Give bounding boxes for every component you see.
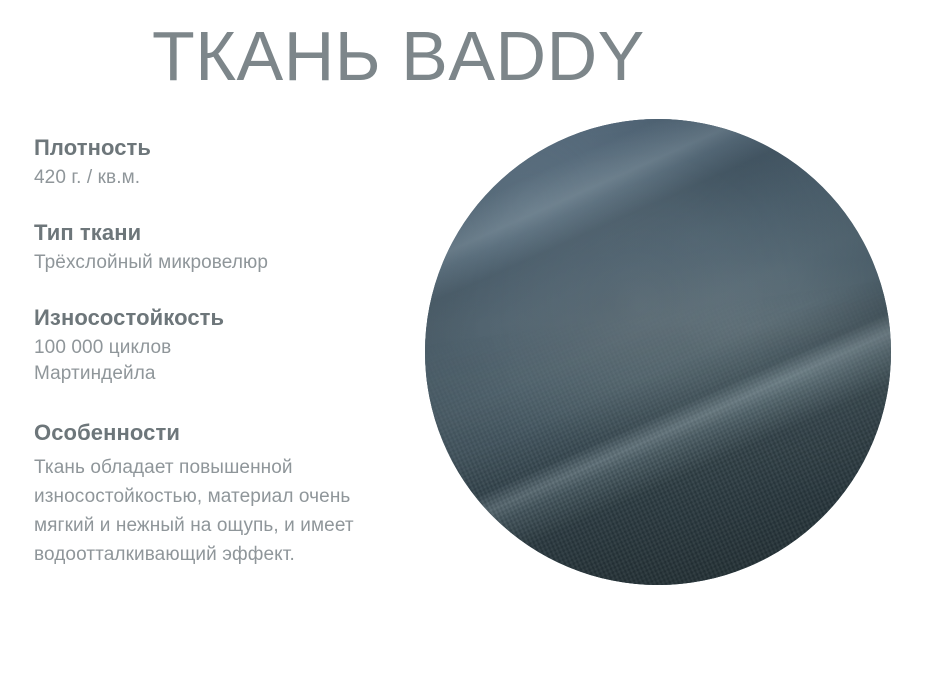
spec-value-durability: 100 000 циклов Мартиндейла — [34, 335, 404, 387]
spec-label-durability: Износостойкость — [34, 304, 404, 332]
spec-value-density: 420 г. / кв.м. — [34, 165, 404, 191]
spec-value-fabric-type: Трёхслойный микровелюр — [34, 250, 404, 276]
spec-label-fabric-type: Тип ткани — [34, 219, 404, 247]
spec-item-fabric-type: Тип ткани Трёхслойный микровелюр — [34, 219, 404, 276]
spec-label-features: Особенности — [34, 419, 404, 447]
spec-label-density: Плотность — [34, 134, 404, 162]
spec-value-features: Ткань обладает повышенной износостойкост… — [34, 453, 384, 569]
page-title: ТКАНЬ BADDY — [152, 14, 645, 98]
fabric-swatch-photo — [425, 119, 891, 585]
spec-item-durability: Износостойкость 100 000 циклов Мартиндей… — [34, 304, 404, 387]
fabric-spec-slide: ТКАНЬ BADDY Плотность 420 г. / кв.м. Тип… — [0, 0, 934, 700]
spec-item-density: Плотность 420 г. / кв.м. — [34, 134, 404, 191]
fabric-vignette — [425, 119, 891, 585]
spec-item-features: Особенности Ткань обладает повышенной из… — [34, 419, 404, 569]
spec-list: Плотность 420 г. / кв.м. Тип ткани Трёхс… — [34, 134, 404, 569]
